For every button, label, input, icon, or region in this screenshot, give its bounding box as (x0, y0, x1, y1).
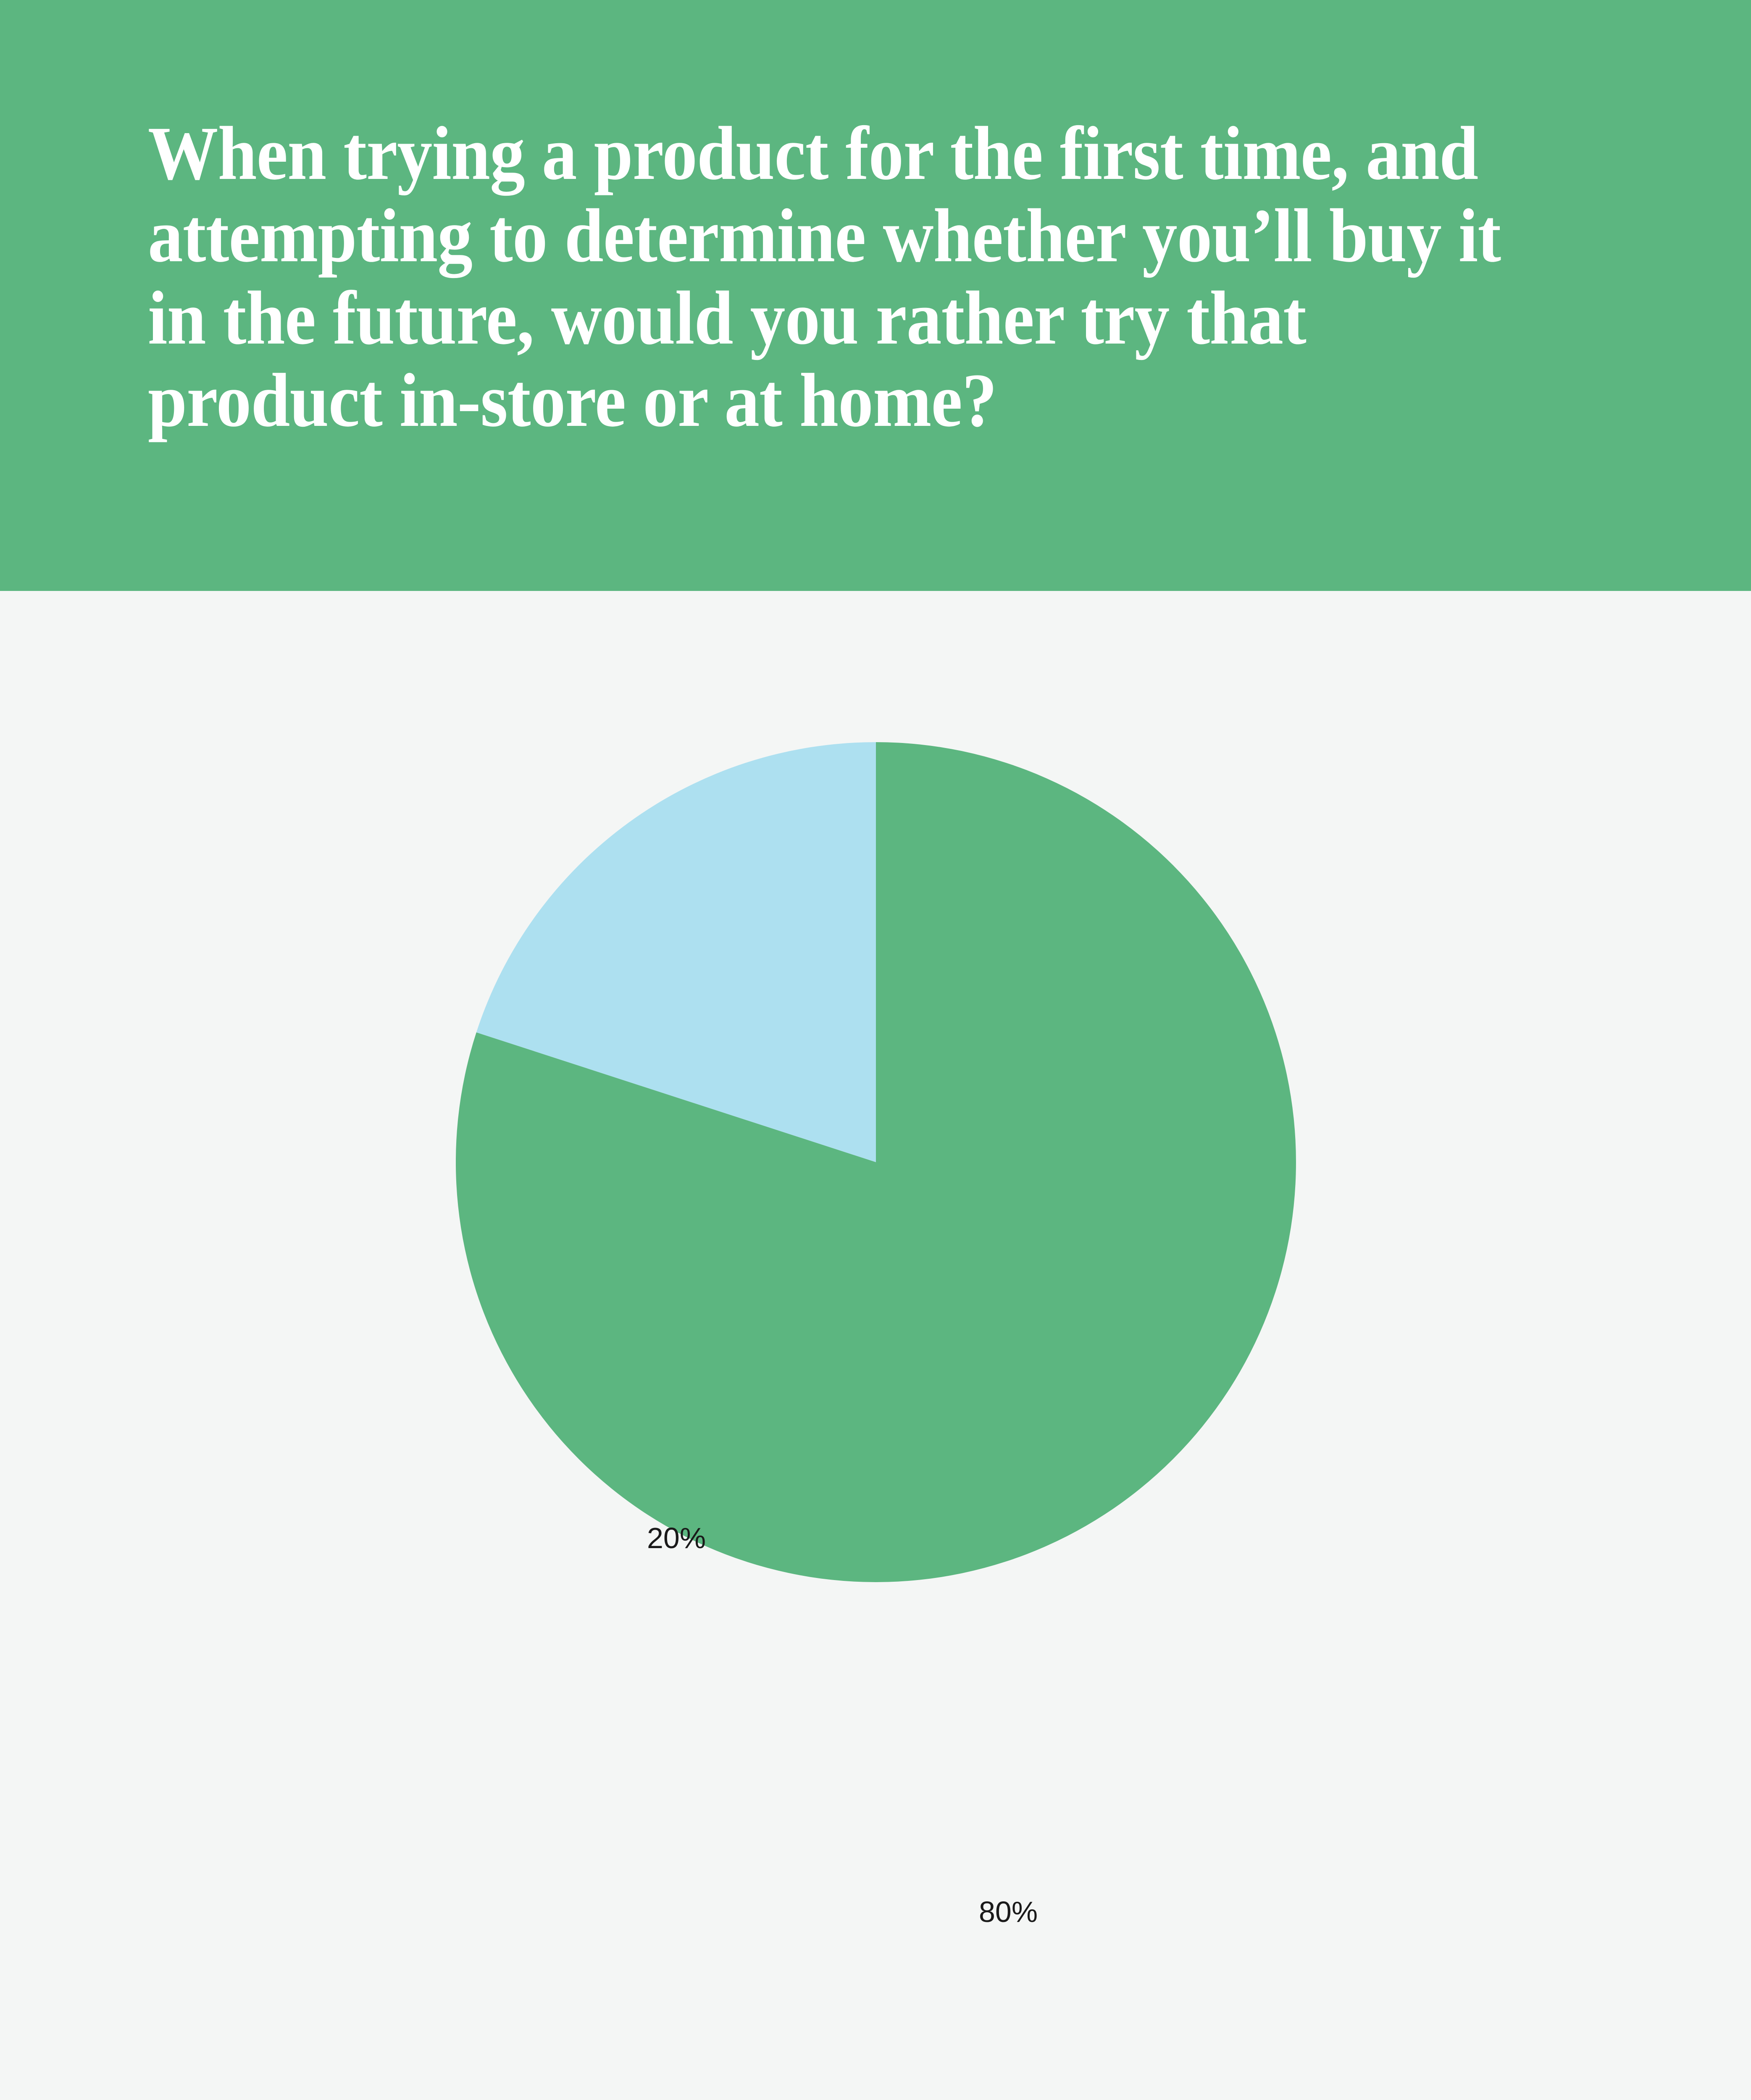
pie-label-at-home: 80% (979, 1895, 1038, 1929)
header-banner: When trying a product for the first time… (0, 0, 1751, 591)
pie-chart (456, 742, 1296, 1582)
page-title: When trying a product for the first time… (148, 113, 1508, 442)
pie-chart-svg (456, 742, 1296, 1582)
chart-area: 20% 80% At Home In-store N = 1250 shoppe… (0, 591, 1751, 1922)
pie-label-in-store: 20% (647, 1521, 706, 1555)
